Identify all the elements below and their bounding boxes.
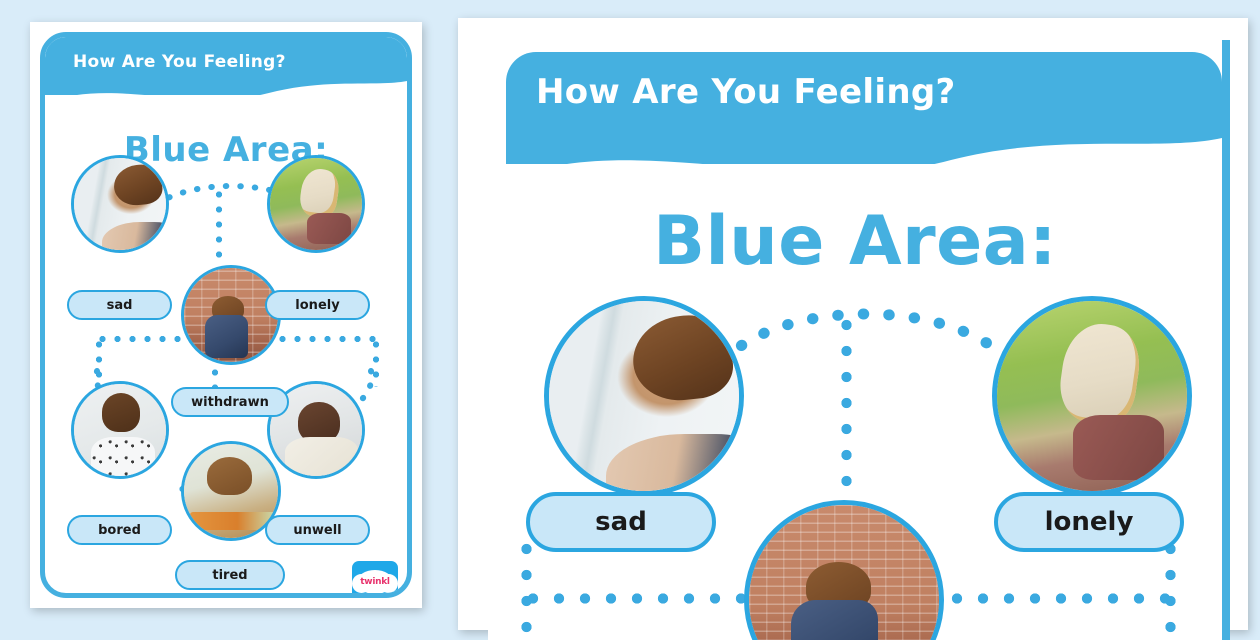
label-text: lonely bbox=[295, 298, 339, 313]
label-text: bored bbox=[98, 523, 141, 538]
photo-withdrawn[interactable] bbox=[181, 265, 281, 365]
header-wave-divider bbox=[45, 73, 407, 107]
withdrawn-boy-brick-wall-photo bbox=[184, 268, 278, 362]
poster-thumbnail[interactable]: How Are You Feeling? Blue Area: bbox=[40, 32, 412, 598]
tired-boy-on-book-photo bbox=[184, 444, 278, 538]
connector-down-left bbox=[520, 536, 533, 640]
header-title: How Are You Feeling? bbox=[536, 72, 955, 112]
label-pill-lonely[interactable]: lonely bbox=[994, 492, 1184, 552]
lonely-girl-outdoors-photo bbox=[270, 158, 362, 250]
header-wave-divider bbox=[506, 122, 1222, 192]
label-text: lonely bbox=[1045, 507, 1134, 537]
withdrawn-boy-brick-wall-photo bbox=[749, 505, 939, 640]
connector-right-row bbox=[918, 592, 1170, 605]
connector-left-row bbox=[520, 592, 768, 605]
connector-down-right bbox=[1164, 536, 1177, 640]
label-text: withdrawn bbox=[191, 395, 269, 410]
photo-sad[interactable] bbox=[544, 296, 744, 496]
label-pill-tired[interactable]: tired bbox=[175, 560, 285, 590]
label-text: sad bbox=[107, 298, 133, 313]
twinkl-logo[interactable]: twinkl bbox=[352, 561, 398, 598]
label-pill-sad[interactable]: sad bbox=[526, 492, 716, 552]
photo-bored[interactable] bbox=[71, 381, 169, 479]
label-pill-unwell[interactable]: unwell bbox=[265, 515, 370, 545]
label-pill-bored[interactable]: bored bbox=[67, 515, 172, 545]
label-pill-lonely[interactable]: lonely bbox=[265, 290, 370, 320]
lonely-girl-outdoors-photo bbox=[997, 301, 1187, 491]
poster-sheet-thumbnail[interactable]: How Are You Feeling? Blue Area: bbox=[30, 22, 422, 608]
header-title: How Are You Feeling? bbox=[73, 52, 286, 72]
cloud-icon: twinkl bbox=[357, 570, 394, 594]
page-title: Blue Area: bbox=[488, 202, 1222, 281]
label-text: unwell bbox=[293, 523, 341, 538]
twinkl-wordmark: twinkl bbox=[360, 577, 389, 587]
label-text: tired bbox=[212, 568, 247, 583]
label-text: sad bbox=[595, 507, 647, 537]
label-pill-sad[interactable]: sad bbox=[67, 290, 172, 320]
sad-boy-at-window-photo bbox=[549, 301, 739, 491]
bored-girl-photo bbox=[74, 384, 166, 476]
photo-withdrawn[interactable] bbox=[744, 500, 944, 640]
photo-lonely[interactable] bbox=[992, 296, 1192, 496]
poster-preview[interactable]: How Are You Feeling? Blue Area: sad lone… bbox=[488, 40, 1230, 640]
connector-arc-top bbox=[716, 296, 1016, 368]
poster-sheet-preview[interactable]: How Are You Feeling? Blue Area: sad lone… bbox=[458, 18, 1248, 630]
photo-lonely[interactable] bbox=[267, 155, 365, 253]
label-pill-withdrawn[interactable]: withdrawn bbox=[171, 387, 289, 417]
photo-sad[interactable] bbox=[71, 155, 169, 253]
sad-boy-at-window-photo bbox=[74, 158, 166, 250]
